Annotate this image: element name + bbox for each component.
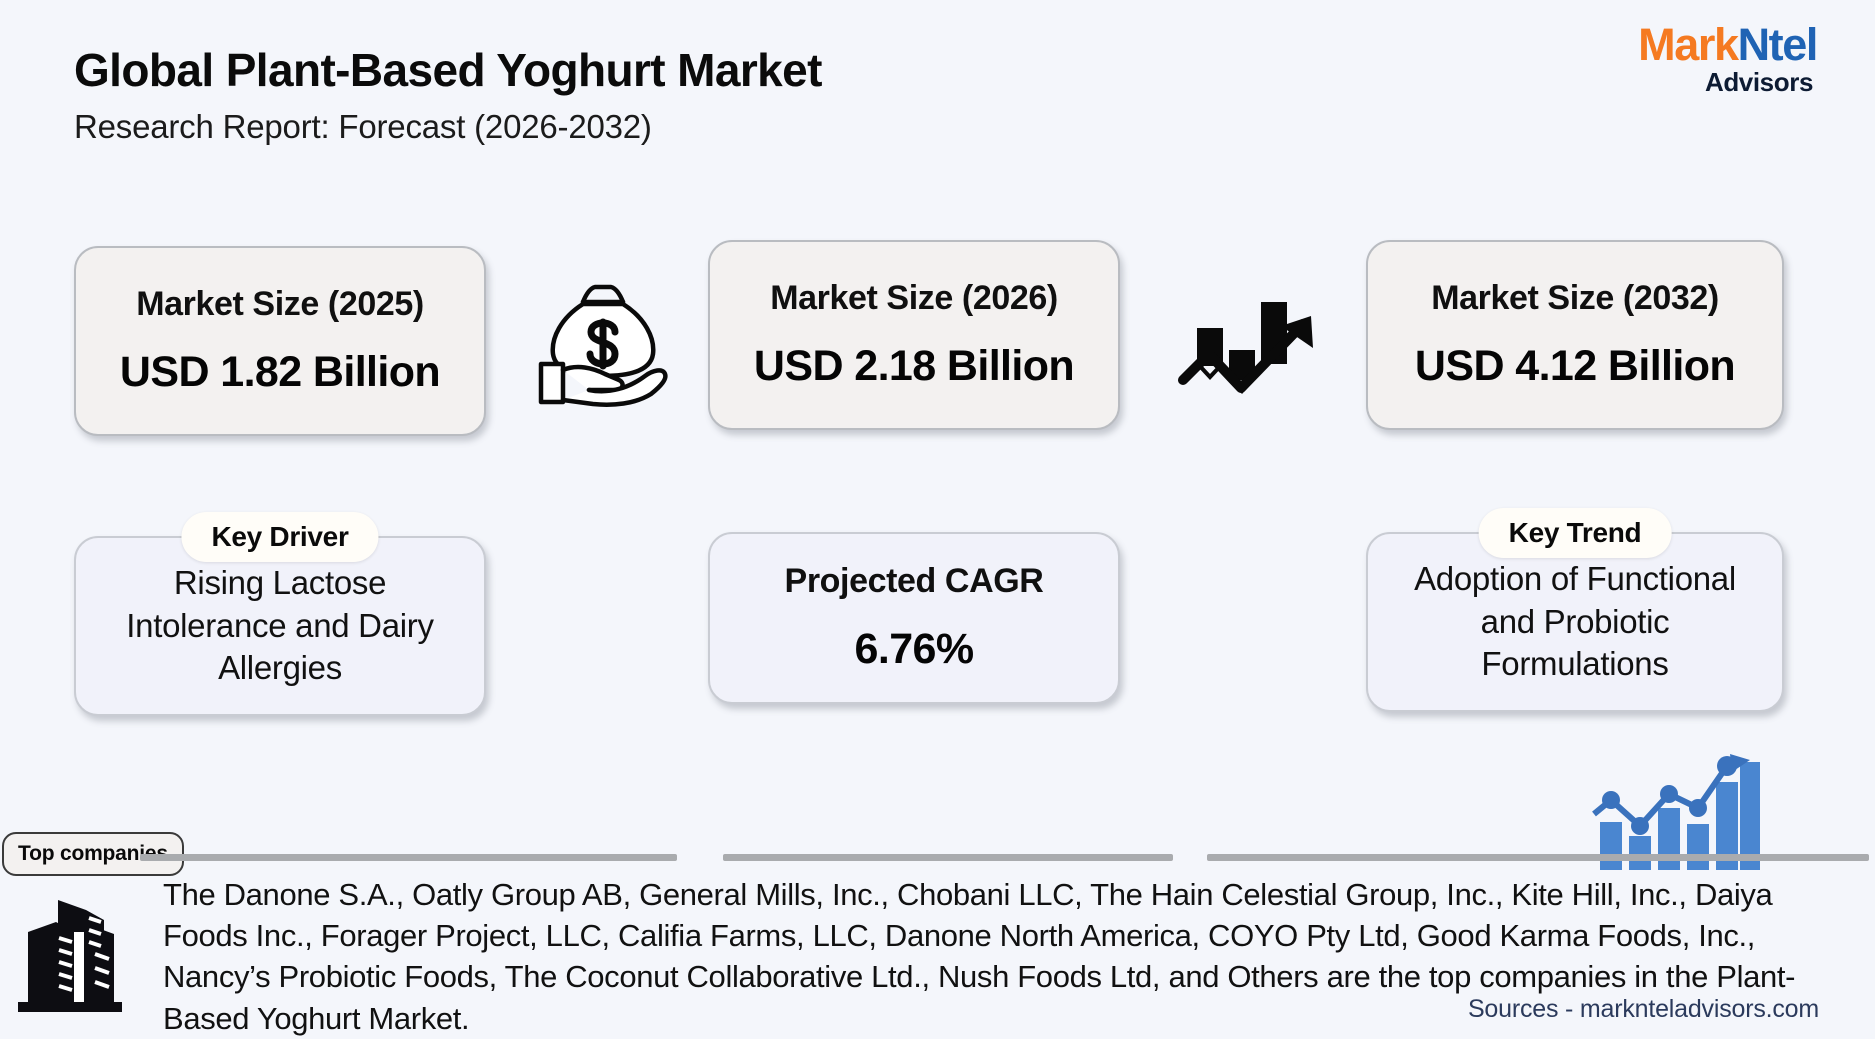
- key-driver-badge: Key Driver: [181, 512, 378, 562]
- page-subtitle: Research Report: Forecast (2026-2032): [74, 108, 822, 146]
- key-driver-text: Rising Lactose Intolerance and Dairy All…: [76, 562, 484, 691]
- market-size-2032-value: USD 4.12 Billion: [1415, 342, 1735, 391]
- key-trend-card: Key Trend Adoption of Functional and Pro…: [1366, 532, 1784, 712]
- logo-mark-text: Mark: [1638, 19, 1737, 70]
- divider-segment-3: [1207, 854, 1869, 861]
- key-trend-badge: Key Trend: [1479, 508, 1672, 558]
- key-driver-card: Key Driver Rising Lactose Intolerance an…: [74, 536, 486, 716]
- logo-subtext: Advisors: [1638, 69, 1817, 95]
- projected-cagr-label: Projected CAGR: [785, 562, 1044, 601]
- market-size-2032-label: Market Size (2032): [1431, 279, 1719, 318]
- market-size-2026-label: Market Size (2026): [770, 279, 1058, 318]
- brand-logo: MarkNtel Advisors: [1638, 22, 1817, 95]
- bar-chart-growth-arrow-icon: [1175, 282, 1325, 402]
- divider-segment-1: [140, 854, 677, 861]
- money-bag-in-hand-icon: [533, 278, 673, 408]
- projected-cagr-card: Projected CAGR 6.76%: [708, 532, 1120, 704]
- divider-segment-2: [723, 854, 1173, 861]
- market-size-2025-value: USD 1.82 Billion: [120, 348, 440, 397]
- key-trend-text: Adoption of Functional and Probiotic For…: [1368, 558, 1782, 687]
- market-size-2025-label: Market Size (2025): [136, 285, 424, 324]
- logo-ntel-text: Ntel: [1738, 19, 1817, 70]
- buildings-icon: [14, 888, 124, 1016]
- market-size-2025-card: Market Size (2025) USD 1.82 Billion: [74, 246, 486, 436]
- market-size-2032-card: Market Size (2032) USD 4.12 Billion: [1366, 240, 1784, 430]
- market-size-2026-card: Market Size (2026) USD 2.18 Billion: [708, 240, 1120, 430]
- market-size-2026-value: USD 2.18 Billion: [754, 342, 1074, 391]
- page-header: Global Plant-Based Yoghurt Market Resear…: [74, 46, 822, 146]
- blue-bar-line-chart-icon: [1580, 748, 1760, 870]
- logo-wordmark: MarkNtel: [1638, 22, 1817, 67]
- page-title: Global Plant-Based Yoghurt Market: [74, 46, 822, 94]
- sources-text: Sources - marknteladvisors.com: [1468, 995, 1819, 1024]
- projected-cagr-value: 6.76%: [855, 625, 974, 674]
